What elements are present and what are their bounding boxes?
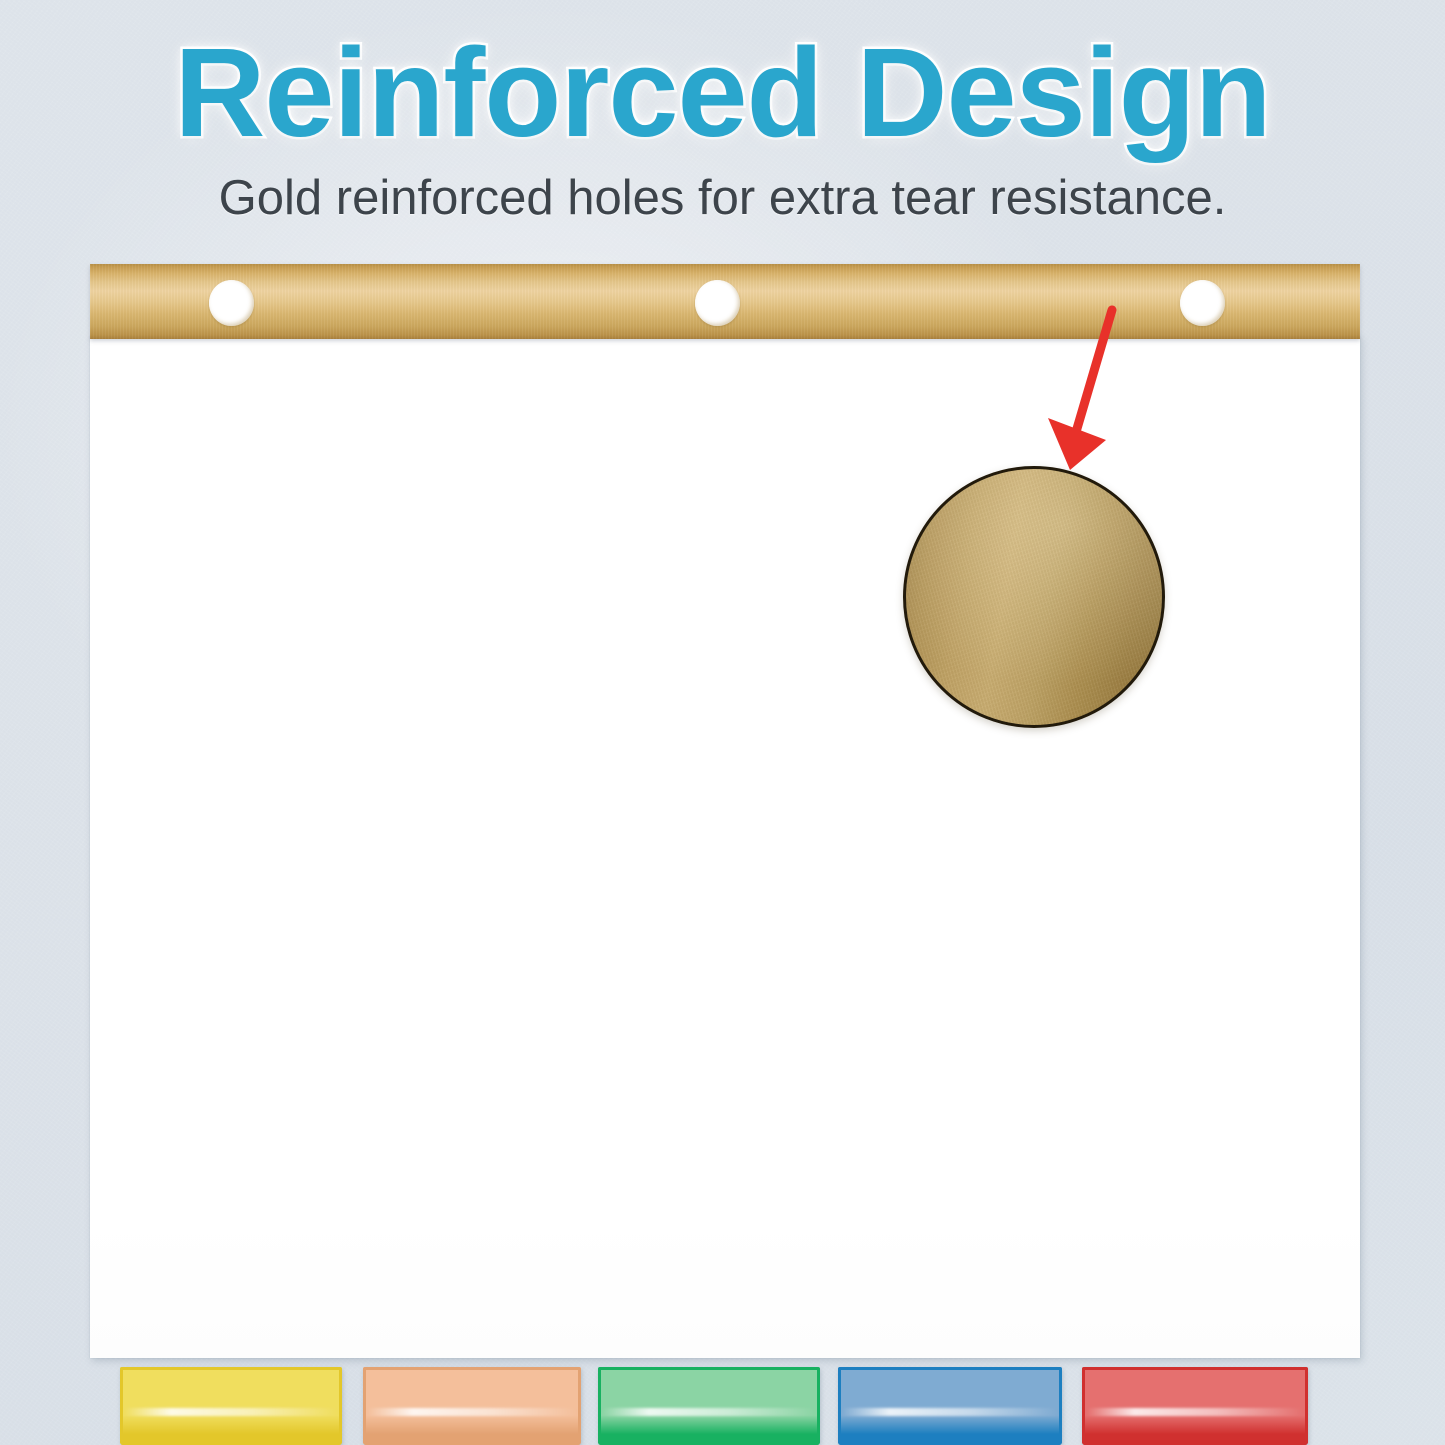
index-tab-gloss — [1087, 1408, 1304, 1417]
index-tab-gloss — [602, 1408, 815, 1417]
product-feature-graphic: Reinforced Design Gold reinforced holes … — [0, 0, 1445, 1445]
gold-closeup-texture — [906, 469, 1162, 725]
index-tab-red — [1082, 1367, 1308, 1445]
page-title: Reinforced Design — [0, 30, 1445, 156]
punch-hole-right — [1180, 280, 1225, 326]
punch-hole-left — [209, 280, 254, 326]
index-tab-peach — [363, 1367, 581, 1445]
page-subtitle: Gold reinforced holes for extra tear res… — [0, 174, 1445, 223]
gold-reinforced-binding-strip — [90, 264, 1360, 339]
white-pad-sheet — [90, 336, 1360, 1358]
index-tab-yellow — [120, 1367, 342, 1445]
callout-arrow-icon — [1030, 300, 1160, 490]
index-tab-blue — [838, 1367, 1062, 1445]
gold-reinforced-hole-closeup — [903, 466, 1165, 728]
index-tab-gloss — [842, 1408, 1057, 1417]
index-tab-gloss — [367, 1408, 576, 1417]
punch-hole-center — [695, 280, 740, 326]
index-tab-gloss — [124, 1408, 337, 1417]
index-tab-green — [598, 1367, 820, 1445]
